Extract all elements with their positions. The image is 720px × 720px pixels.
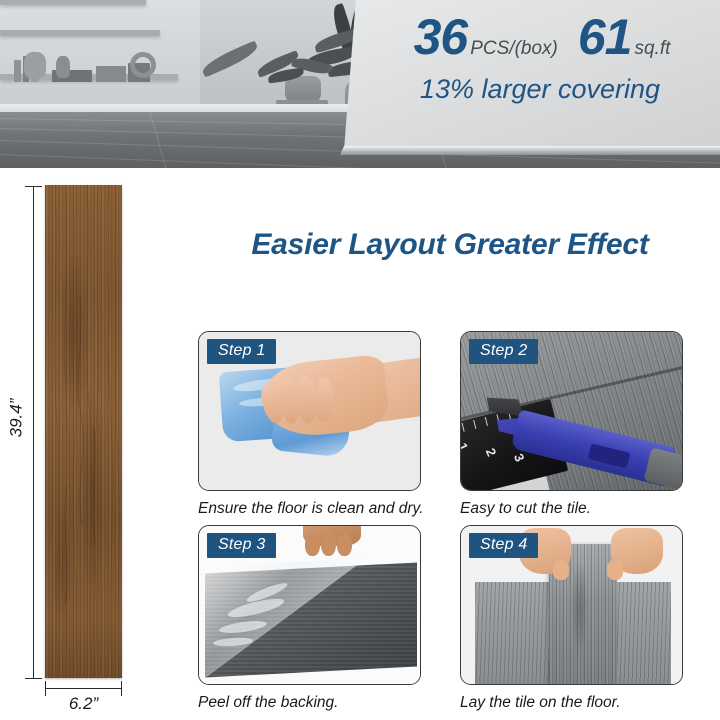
height-tick-bottom bbox=[25, 678, 42, 679]
pieces-unit: PCS/(box) bbox=[470, 38, 558, 60]
step-3-panel: Step 3 bbox=[198, 525, 421, 685]
height-dimension-line bbox=[33, 186, 34, 678]
ruler-mark: 3 bbox=[511, 451, 528, 464]
step-badge: Step 2 bbox=[469, 339, 538, 364]
pieces-count: 36 bbox=[414, 12, 468, 62]
step-4-panel: Step 4 bbox=[460, 525, 683, 685]
step-2-panel: 1 2 3 Step 2 bbox=[460, 331, 683, 491]
product-infographic: 36 PCS/(box) 61 sq.ft 13% larger coverin… bbox=[0, 0, 720, 720]
height-label: 39.4” bbox=[6, 399, 26, 438]
step-item: Step 1 Ensure the floor is clean and dry… bbox=[198, 331, 421, 518]
width-dimension-line bbox=[45, 688, 122, 689]
area-count: 61 bbox=[578, 12, 632, 62]
height-tick-top bbox=[25, 186, 42, 187]
step-item: Step 4 Lay the tile on the floor. bbox=[460, 525, 683, 712]
ruler-mark: 2 bbox=[483, 446, 500, 459]
wood-grain-icon bbox=[45, 185, 122, 678]
width-label: 6.2” bbox=[45, 694, 122, 714]
step-badge: Step 4 bbox=[469, 533, 538, 558]
vase bbox=[24, 52, 46, 78]
steps-grid: Step 1 Ensure the floor is clean and dry… bbox=[198, 331, 690, 711]
step-caption: Ensure the floor is clean and dry. bbox=[198, 500, 421, 518]
shelf-upper bbox=[0, 30, 160, 36]
decor-ring bbox=[130, 52, 156, 78]
area-unit: sq.ft bbox=[634, 38, 670, 60]
headline-banner: 36 PCS/(box) 61 sq.ft 13% larger coverin… bbox=[344, 0, 720, 150]
banner-subtitle: 13% larger covering bbox=[344, 74, 720, 105]
step-caption: Lay the tile on the floor. bbox=[460, 694, 683, 712]
step-1-panel: Step 1 bbox=[198, 331, 421, 491]
banner-stats: 36 PCS/(box) 61 sq.ft bbox=[344, 12, 720, 70]
plank-sample bbox=[45, 185, 122, 678]
step-badge: Step 3 bbox=[207, 533, 276, 558]
step-badge: Step 1 bbox=[207, 339, 276, 364]
step-caption: Easy to cut the tile. bbox=[460, 500, 683, 518]
step-item: 1 2 3 Step 2 Easy to cut the tile. bbox=[460, 331, 683, 518]
shelf-top bbox=[0, 0, 146, 5]
banner-bottom-edge bbox=[340, 146, 720, 155]
section-title: Easier Layout Greater Effect bbox=[190, 228, 710, 262]
ruler-mark: 1 bbox=[460, 441, 471, 454]
step-item: Step 3 Peel off the backing. bbox=[198, 525, 421, 712]
vase bbox=[56, 56, 70, 78]
step-caption: Peel off the backing. bbox=[198, 694, 421, 712]
